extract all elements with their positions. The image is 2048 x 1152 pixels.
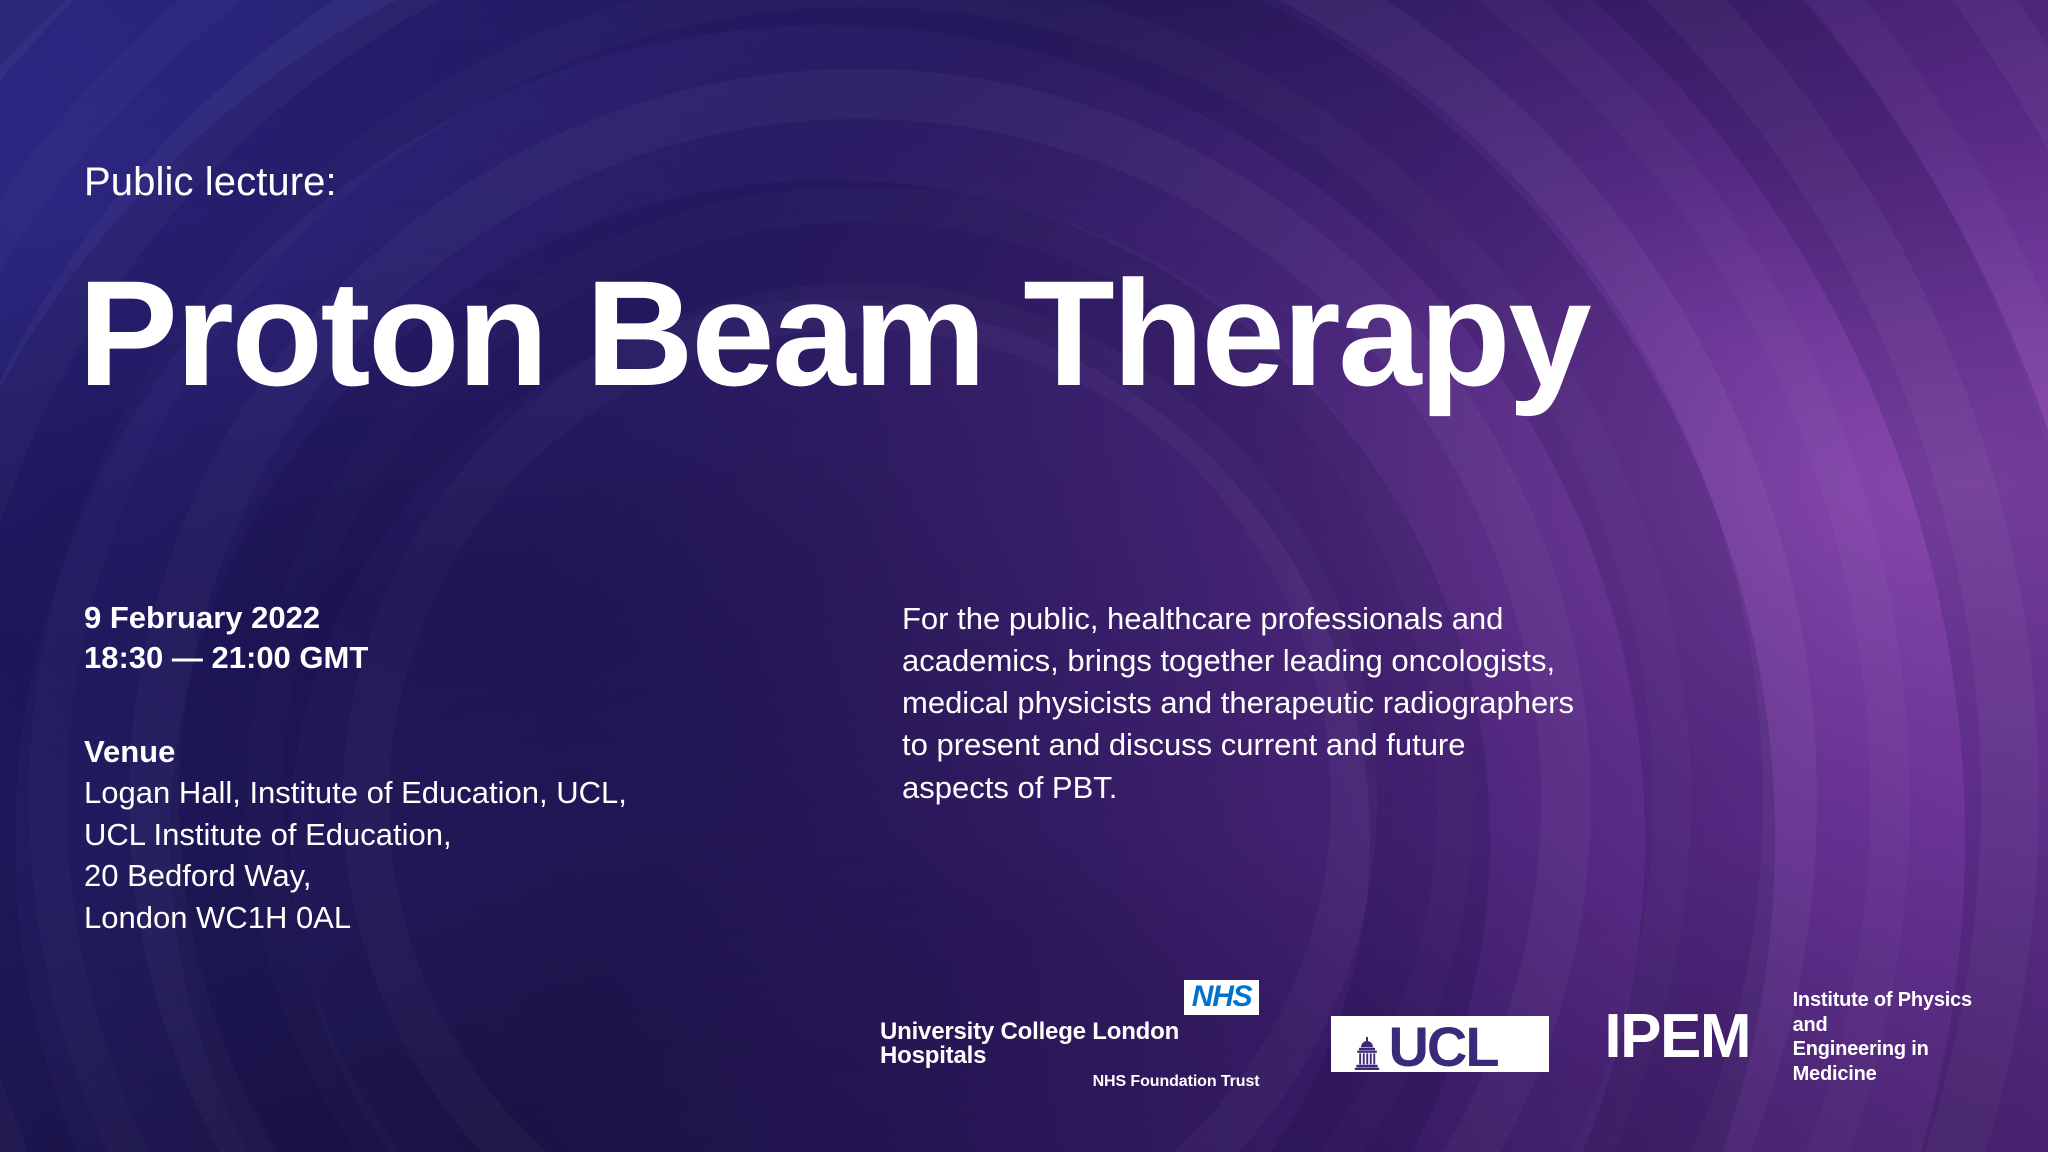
description-column: For the public, healthcare professionals… — [902, 598, 1722, 809]
ucl-logo: UCL — [1331, 1016, 1532, 1088]
ipem-subtitle-line: Institute of Physics and — [1793, 989, 1972, 1035]
description-line: For the public, healthcare professionals… — [902, 598, 1722, 640]
venue-address-line: Logan Hall, Institute of Education, UCL, — [84, 772, 864, 814]
page-title: Proton Beam Therapy — [78, 258, 1589, 408]
ipem-subtitle-line: Engineering in Medicine — [1793, 1038, 1929, 1084]
ucl-wordmark: UCL — [1388, 1024, 1497, 1070]
event-time: 18:30 — 21:00 GMT — [84, 638, 864, 678]
eyebrow-label: Public lecture: — [84, 160, 337, 205]
logo-strip: NHS University College London Hospitals … — [880, 980, 1986, 1090]
description-line: to present and discuss current and futur… — [902, 724, 1722, 766]
nhs-wordmark: NHS — [1192, 982, 1252, 1012]
uclh-trust-name: University College London Hospitals — [880, 1020, 1259, 1068]
ipem-wordmark: IPEM — [1604, 1011, 1750, 1064]
venue-block: Venue Logan Hall, Institute of Education… — [84, 731, 864, 939]
poster-content: Public lecture: Proton Beam Therapy 9 Fe… — [0, 0, 2048, 1152]
ipem-subtitle: Institute of Physics and Engineering in … — [1793, 988, 1986, 1086]
uclh-nhs-logo: NHS University College London Hospitals … — [880, 980, 1259, 1090]
venue-address-line: London WC1H 0AL — [84, 897, 864, 939]
venue-heading: Venue — [84, 731, 864, 773]
description-line: academics, brings together leading oncol… — [902, 640, 1722, 682]
event-details-column: 9 February 2022 18:30 — 21:00 GMT Venue … — [84, 598, 864, 938]
nhs-mark-box: NHS — [1184, 980, 1260, 1015]
event-date: 9 February 2022 — [84, 598, 864, 638]
ipem-logo: IPEM Institute of Physics and Engineerin… — [1604, 988, 1986, 1086]
venue-address-line: UCL Institute of Education, — [84, 814, 864, 856]
nhs-foundation-trust-label: NHS Foundation Trust — [1093, 1074, 1260, 1090]
venue-address-line: 20 Bedford Way, — [84, 855, 864, 897]
poster-canvas: Public lecture: Proton Beam Therapy 9 Fe… — [0, 0, 2048, 1152]
description-line: aspects of PBT. — [902, 767, 1722, 809]
event-when-block: 9 February 2022 18:30 — 21:00 GMT — [84, 598, 864, 679]
ucl-dome-icon — [1353, 1036, 1381, 1070]
description-line: medical physicists and therapeutic radio… — [902, 682, 1722, 724]
ucl-lockup: UCL — [1353, 1024, 1497, 1070]
